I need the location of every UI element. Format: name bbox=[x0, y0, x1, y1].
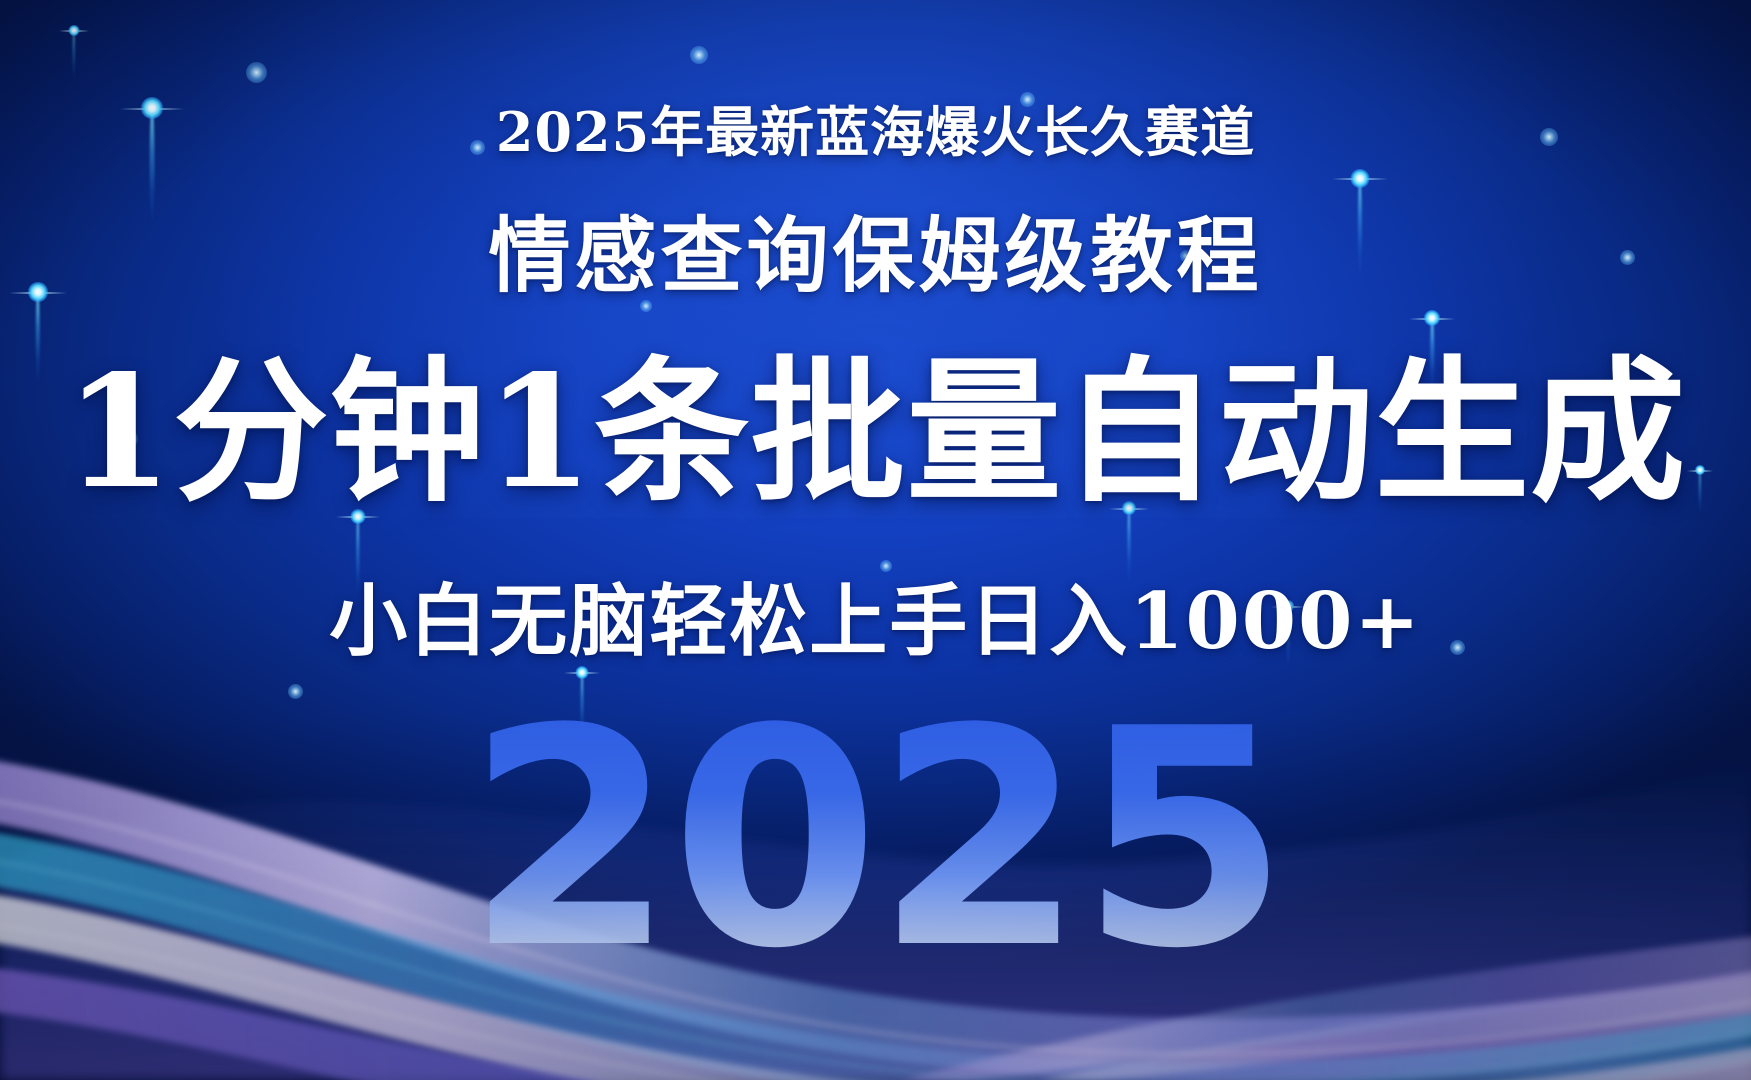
text-content: 2025年最新蓝海爆火长久赛道 情感查询保姆级教程 1分钟1条批量自动生成 小白… bbox=[0, 0, 1751, 1080]
headline-text: 1分钟1条批量自动生成 bbox=[65, 348, 1687, 515]
subtitle-text: 情感查询保姆级教程 bbox=[488, 189, 1262, 308]
tagline-text: 小白无脑轻松上手日入1000+ bbox=[329, 559, 1421, 671]
promo-banner: 2025 2025年最新蓝海爆火长久赛道 情感查询保姆级教程 1分钟1条批量自动… bbox=[0, 0, 1751, 1080]
kicker-text: 2025年最新蓝海爆火长久赛道 bbox=[496, 88, 1255, 167]
